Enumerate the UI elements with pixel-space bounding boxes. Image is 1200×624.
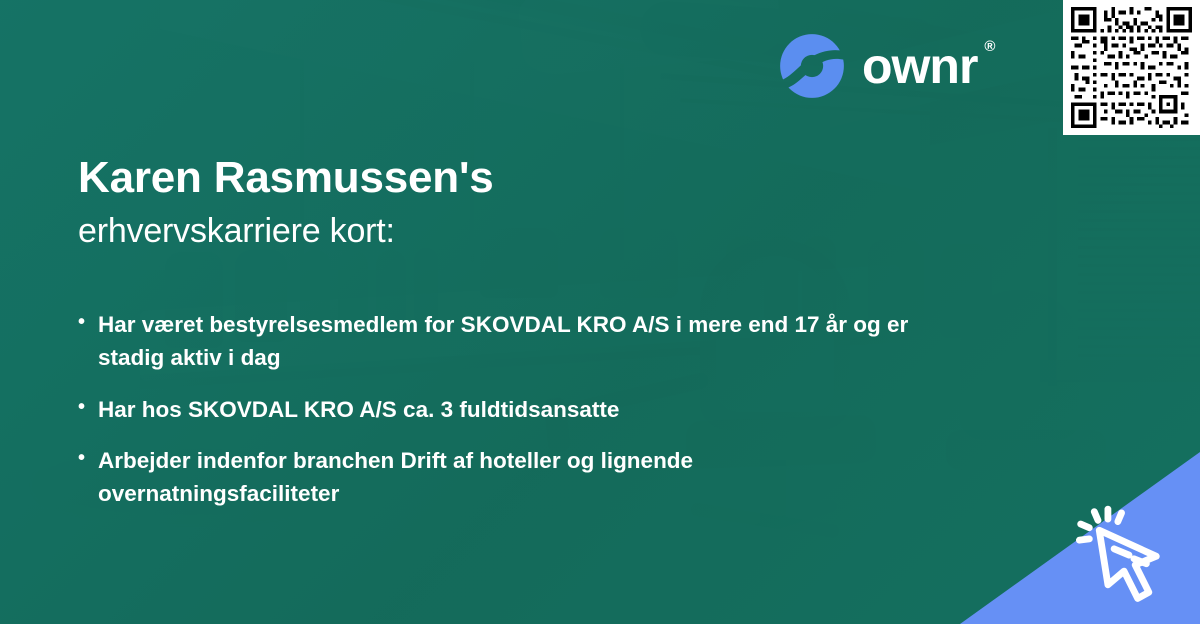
- bullet-dot-icon: •: [78, 308, 85, 375]
- brand-name: ownr: [862, 38, 977, 94]
- list-item-text: Arbejder indenfor branchen Drift af hote…: [98, 444, 918, 511]
- title-line-1: Karen Rasmussen's: [78, 152, 898, 204]
- list-item: • Har været bestyrelsesmedlem for SKOVDA…: [78, 308, 978, 375]
- ownr-wordmark: ownr®: [862, 41, 977, 91]
- title-line-2: erhvervskarriere kort:: [78, 210, 898, 253]
- ownr-logo[interactable]: ownr®: [778, 32, 977, 100]
- qr-code[interactable]: [1063, 0, 1200, 135]
- career-facts-list: • Har været bestyrelsesmedlem for SKOVDA…: [78, 308, 978, 528]
- list-item-text: Har hos SKOVDAL KRO A/S ca. 3 fuldtidsan…: [98, 393, 619, 426]
- bullet-dot-icon: •: [78, 393, 85, 426]
- registered-trademark-icon: ®: [984, 39, 994, 54]
- list-item-text: Har været bestyrelsesmedlem for SKOVDAL …: [98, 308, 918, 375]
- business-career-card: ownr®: [0, 0, 1200, 624]
- click-cursor-icon: [1064, 498, 1194, 622]
- ownr-circle-swoosh-icon: [778, 32, 846, 100]
- qr-code-icon: [1070, 7, 1193, 128]
- page-title: Karen Rasmussen's erhvervskarriere kort:: [78, 152, 898, 252]
- list-item: • Arbejder indenfor branchen Drift af ho…: [78, 444, 978, 511]
- bullet-dot-icon: •: [78, 444, 85, 511]
- list-item: • Har hos SKOVDAL KRO A/S ca. 3 fuldtids…: [78, 393, 978, 426]
